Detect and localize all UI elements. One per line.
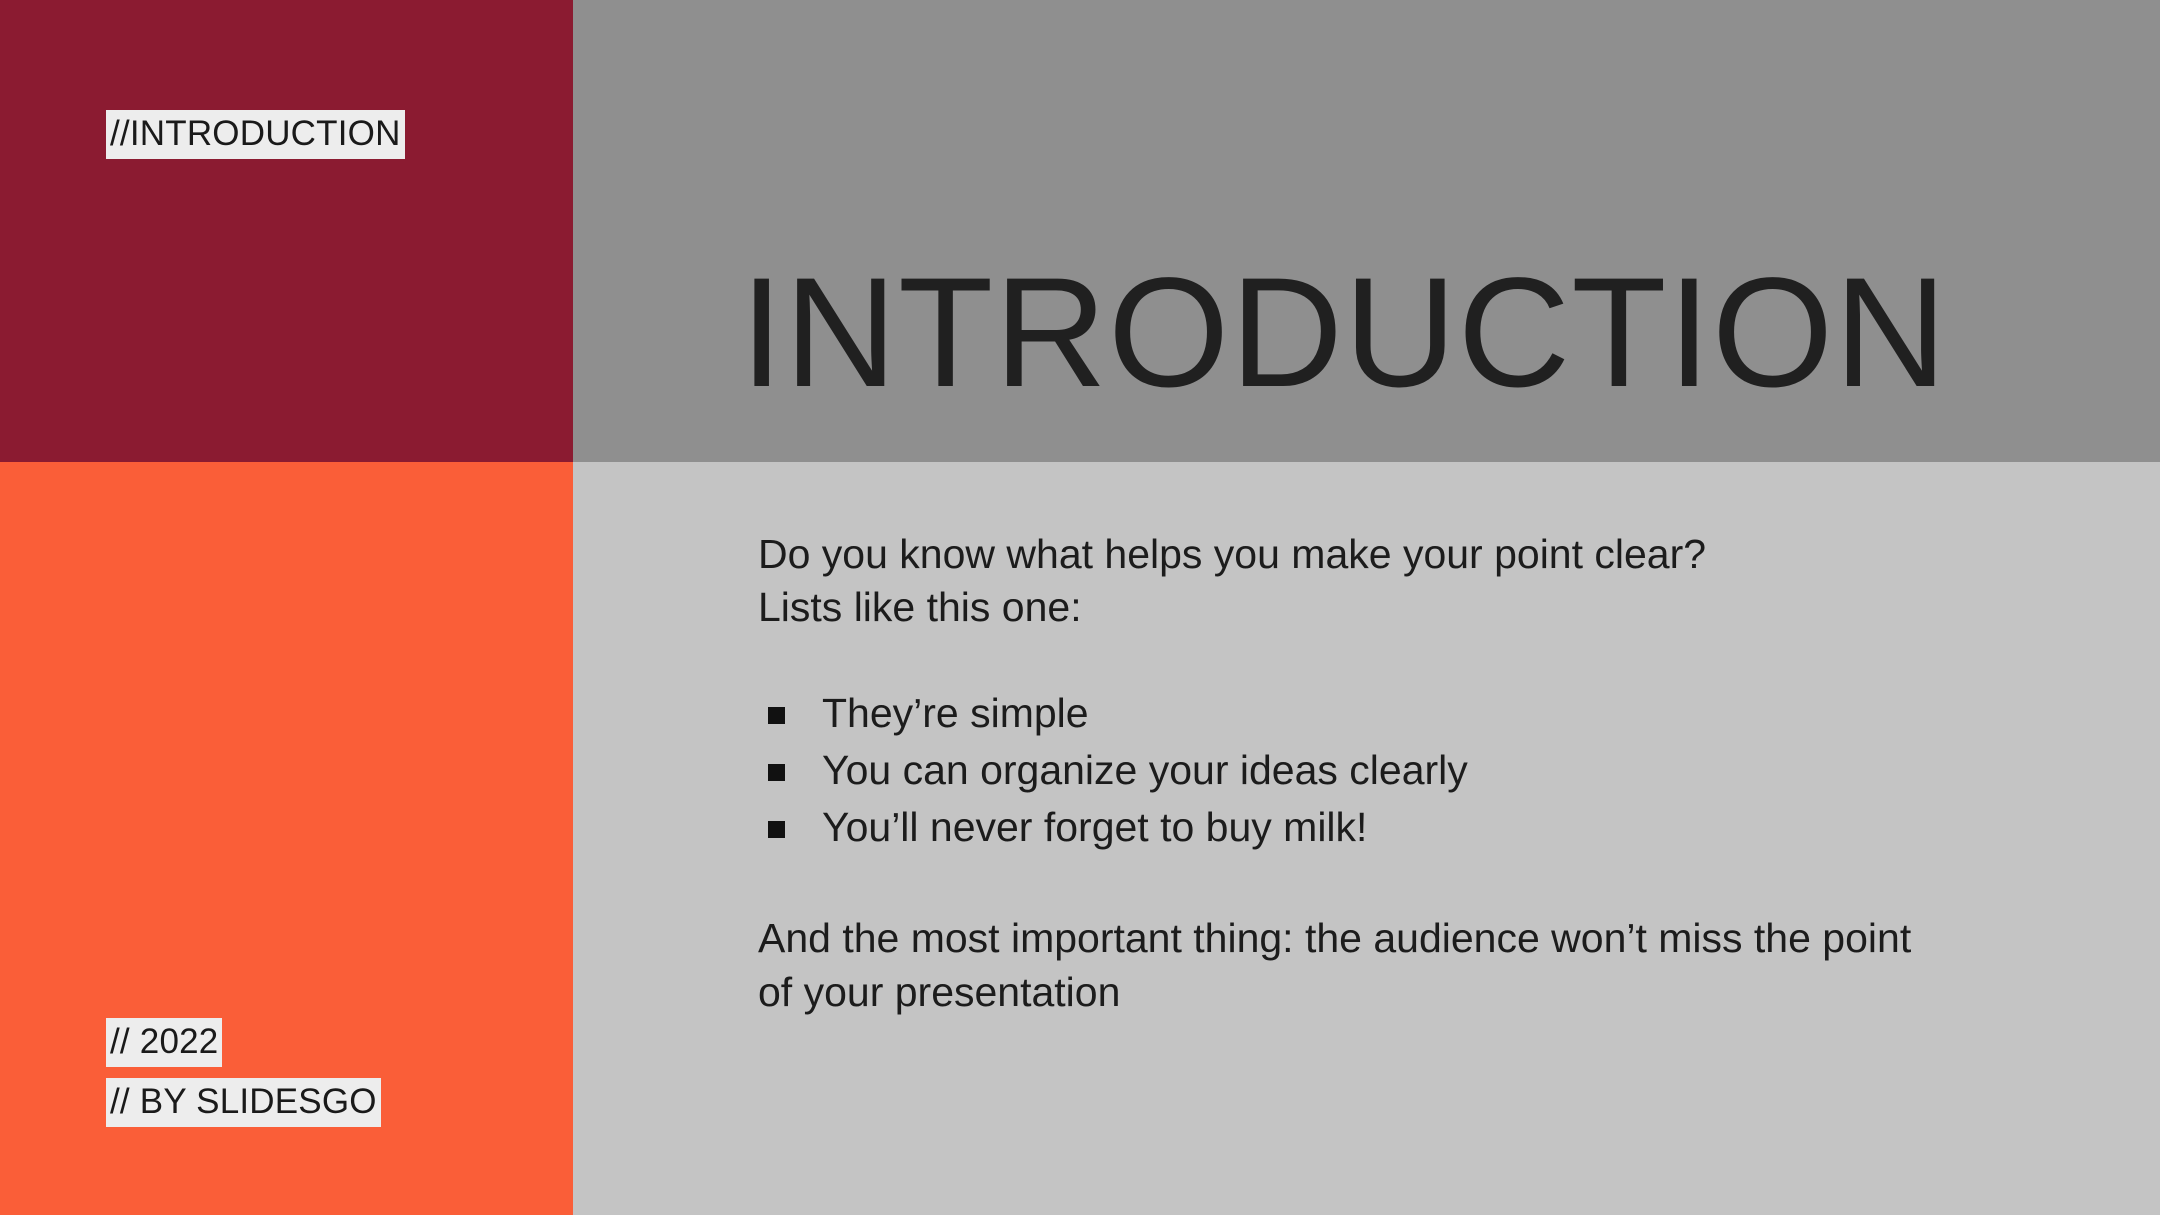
list-item: They’re simple [758,687,2018,740]
footer-year: // 2022 [106,1018,222,1067]
list-item: You’ll never forget to buy milk! [758,801,2018,854]
intro-line-1: Do you know what helps you make your poi… [758,528,2018,581]
list-item-label: They’re simple [822,690,1089,736]
square-bullet-icon [768,707,785,724]
list-item-label: You’ll never forget to buy milk! [822,804,1367,850]
square-bullet-icon [768,821,785,838]
list-item: You can organize your ideas clearly [758,744,2018,797]
outro-line-2: of your presentation [758,966,2018,1019]
outro-paragraph: And the most important thing: the audien… [758,912,2018,1019]
page-title: INTRODUCTION [740,255,1948,411]
accent-panel-top-left [0,0,573,462]
intro-line-2: Lists like this one: [758,581,2018,634]
body-content: Do you know what helps you make your poi… [758,528,2018,1019]
bullet-list: They’re simple You can organize your ide… [758,687,2018,855]
intro-paragraph: Do you know what helps you make your poi… [758,528,2018,635]
footer-author: // BY SLIDESGO [106,1078,381,1127]
outro-line-1: And the most important thing: the audien… [758,912,2018,965]
slide-introduction: //INTRODUCTION INTRODUCTION // 2022 // B… [0,0,2160,1215]
list-item-label: You can organize your ideas clearly [822,747,1468,793]
section-label: //INTRODUCTION [106,110,405,159]
square-bullet-icon [768,764,785,781]
